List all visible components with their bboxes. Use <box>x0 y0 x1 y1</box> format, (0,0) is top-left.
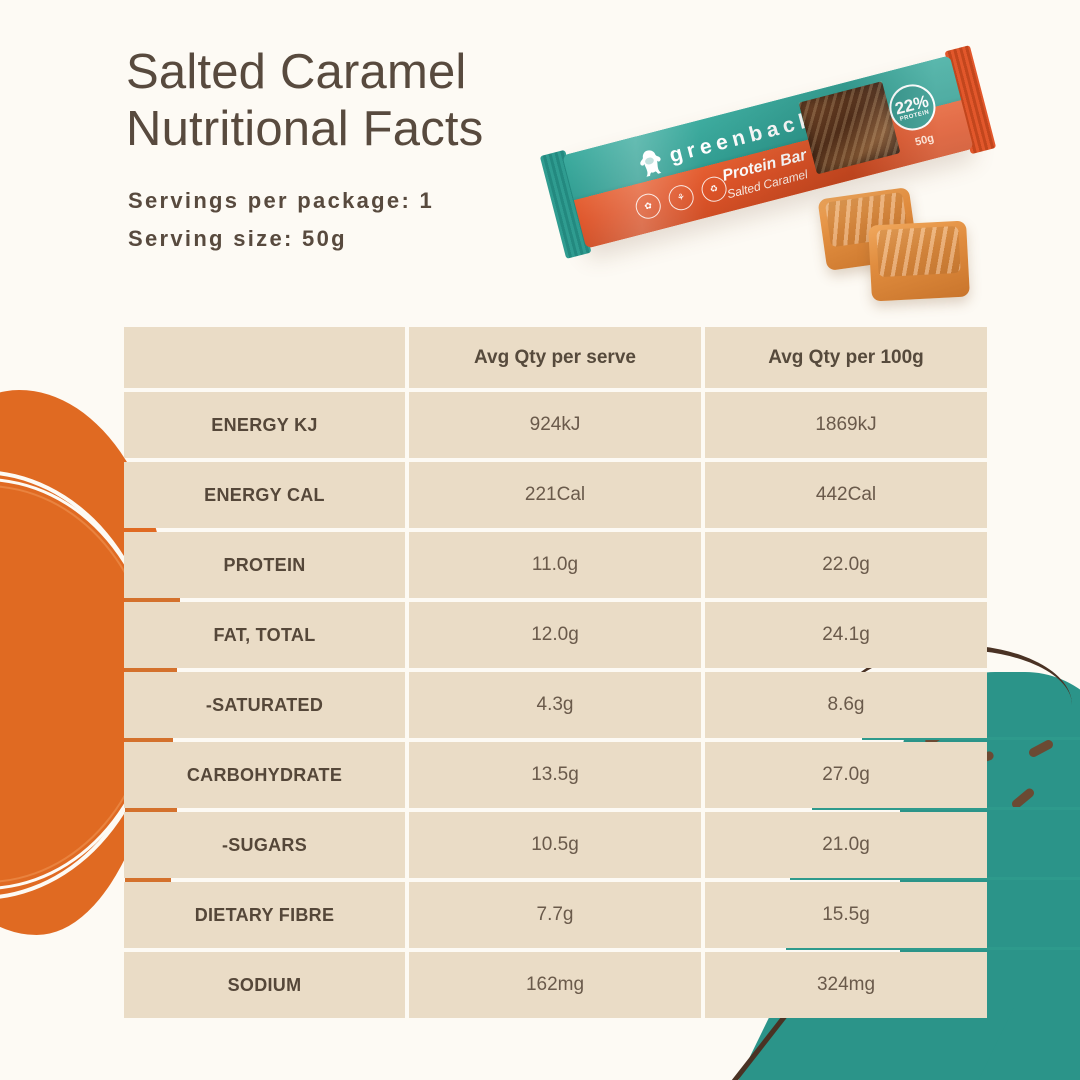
header-cell-blank <box>124 327 405 388</box>
nutrient-label: DIETARY FIBRE <box>124 882 405 948</box>
value-per-100g: 22.0g <box>705 532 987 598</box>
value-per-100g: 15.5g <box>705 882 987 948</box>
nutrition-label-page: Salted Caramel Nutritional Facts Serving… <box>0 0 1080 1080</box>
value-per-serve: 7.7g <box>409 882 701 948</box>
servings-per-package: Servings per package: 1 <box>128 188 434 214</box>
brand-name: greenback™ <box>667 105 827 168</box>
table-row: SODIUM 162mg 324mg <box>124 952 979 1018</box>
nutrient-label: FAT, TOTAL <box>124 602 405 668</box>
vegan-icon: ✿ <box>633 191 663 221</box>
header-cell-per-100g: Avg Qty per 100g <box>705 327 987 388</box>
table-row: FAT, TOTAL 12.0g 24.1g <box>124 602 979 668</box>
wrapper-crimp-right <box>944 45 996 154</box>
sprinkle-icon <box>1027 738 1054 758</box>
nutrition-table: Avg Qty per serve Avg Qty per 100g ENERG… <box>124 327 979 1018</box>
table-row: ENERGY CAL 221Cal 442Cal <box>124 462 979 528</box>
value-per-100g: 442Cal <box>705 462 987 528</box>
nutrient-label: -SATURATED <box>124 672 405 738</box>
value-per-serve: 4.3g <box>409 672 701 738</box>
value-per-100g: 1869kJ <box>705 392 987 458</box>
value-per-serve: 924kJ <box>409 392 701 458</box>
serving-size: Serving size: 50g <box>128 226 347 252</box>
nutrient-label: SODIUM <box>124 952 405 1018</box>
certification-icons: ✿ ⚘ ♻ <box>633 174 729 221</box>
flavour-label: Salted Caramel <box>726 167 810 201</box>
product-window-photo <box>799 81 901 174</box>
protein-badge: 22% PROTEIN <box>884 79 940 135</box>
protein-bar-wrapper: TASTE THE CHANGE greenback™ ✿ ⚘ ♻ Protei… <box>562 55 973 248</box>
value-per-serve: 221Cal <box>409 462 701 528</box>
table-row: -SATURATED 4.3g 8.6g <box>124 672 979 738</box>
wrapper-face: TASTE THE CHANGE greenback™ ✿ ⚘ ♻ Protei… <box>562 55 973 248</box>
value-per-serve: 10.5g <box>409 812 701 878</box>
value-per-serve: 12.0g <box>409 602 701 668</box>
wrapper-gloss <box>562 55 973 248</box>
value-per-100g: 24.1g <box>705 602 987 668</box>
product-type-label: Protein Bar <box>721 147 809 186</box>
tagline-text: TASTE THE CHANGE <box>562 187 594 249</box>
nutrient-label: -SUGARS <box>124 812 405 878</box>
value-per-100g: 27.0g <box>705 742 987 808</box>
badge-value: 22% <box>893 92 930 117</box>
nutrient-label: PROTEIN <box>124 532 405 598</box>
plant-protein-icon: ⚘ <box>666 182 696 212</box>
value-per-serve: 11.0g <box>409 532 701 598</box>
product-image: TASTE THE CHANGE greenback™ ✿ ⚘ ♻ Protei… <box>540 8 992 308</box>
caramel-candy <box>868 220 970 301</box>
page-title: Salted Caramel Nutritional Facts <box>126 44 483 158</box>
table-row: PROTEIN 11.0g 22.0g <box>124 532 979 598</box>
table-row: DIETARY FIBRE 7.7g 15.5g <box>124 882 979 948</box>
wrapper-crimp-left <box>540 150 592 259</box>
table-header-row: Avg Qty per serve Avg Qty per 100g <box>124 327 979 388</box>
caramel-candy <box>817 187 918 271</box>
value-per-100g: 8.6g <box>705 672 987 738</box>
value-per-100g: 21.0g <box>705 812 987 878</box>
table-row: ENERGY KJ 924kJ 1869kJ <box>124 392 979 458</box>
trademark-symbol: ™ <box>813 107 824 119</box>
teal-base-shape <box>790 1010 1080 1080</box>
nutrient-label: ENERGY CAL <box>124 462 405 528</box>
table-row: CARBOHYDRATE 13.5g 27.0g <box>124 742 979 808</box>
table-row: -SUGARS 10.5g 21.0g <box>124 812 979 878</box>
header-cell-per-serve: Avg Qty per serve <box>409 327 701 388</box>
sprinkle-icon <box>1010 787 1036 811</box>
value-per-serve: 13.5g <box>409 742 701 808</box>
recyclable-icon: ♻ <box>699 174 729 204</box>
value-per-100g: 324mg <box>705 952 987 1018</box>
teal-wedge-shape <box>720 1008 1014 1080</box>
badge-label: PROTEIN <box>899 109 930 122</box>
nutrient-label: ENERGY KJ <box>124 392 405 458</box>
value-per-serve: 162mg <box>409 952 701 1018</box>
net-weight-label: 50g <box>914 132 935 148</box>
gorilla-logo-icon <box>629 142 671 185</box>
nutrient-label: CARBOHYDRATE <box>124 742 405 808</box>
